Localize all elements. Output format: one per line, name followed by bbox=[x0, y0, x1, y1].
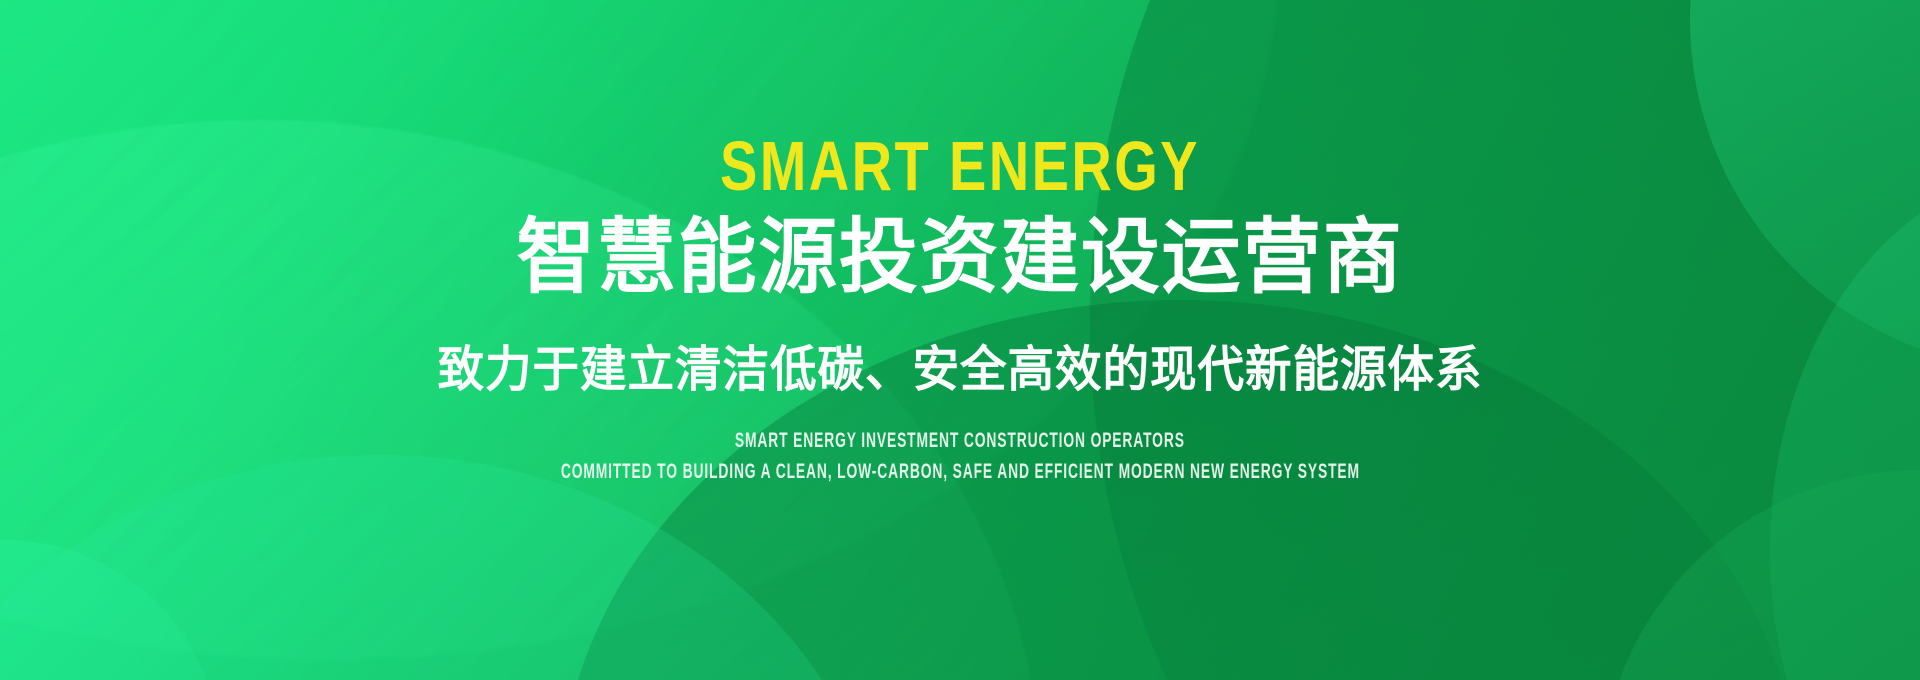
banner-headline-chinese: 智慧能源投资建设运营商 bbox=[516, 215, 1403, 302]
banner-tagline-english-line2: COMMITTED TO BUILDING A CLEAN, LOW-CARBO… bbox=[560, 459, 1359, 486]
banner-eyebrow-title: SMART ENERGY bbox=[720, 131, 1200, 201]
banner-subheadline-chinese: 致力于建立清洁低碳、安全高效的现代新能源体系 bbox=[437, 344, 1482, 398]
banner-tagline-english-line1: SMART ENERGY INVESTMENT CONSTRUCTION OPE… bbox=[735, 428, 1185, 455]
banner-content: SMART ENERGY 智慧能源投资建设运营商 致力于建立清洁低碳、安全高效的… bbox=[0, 0, 1920, 680]
hero-banner: SMART ENERGY 智慧能源投资建设运营商 致力于建立清洁低碳、安全高效的… bbox=[0, 0, 1920, 680]
